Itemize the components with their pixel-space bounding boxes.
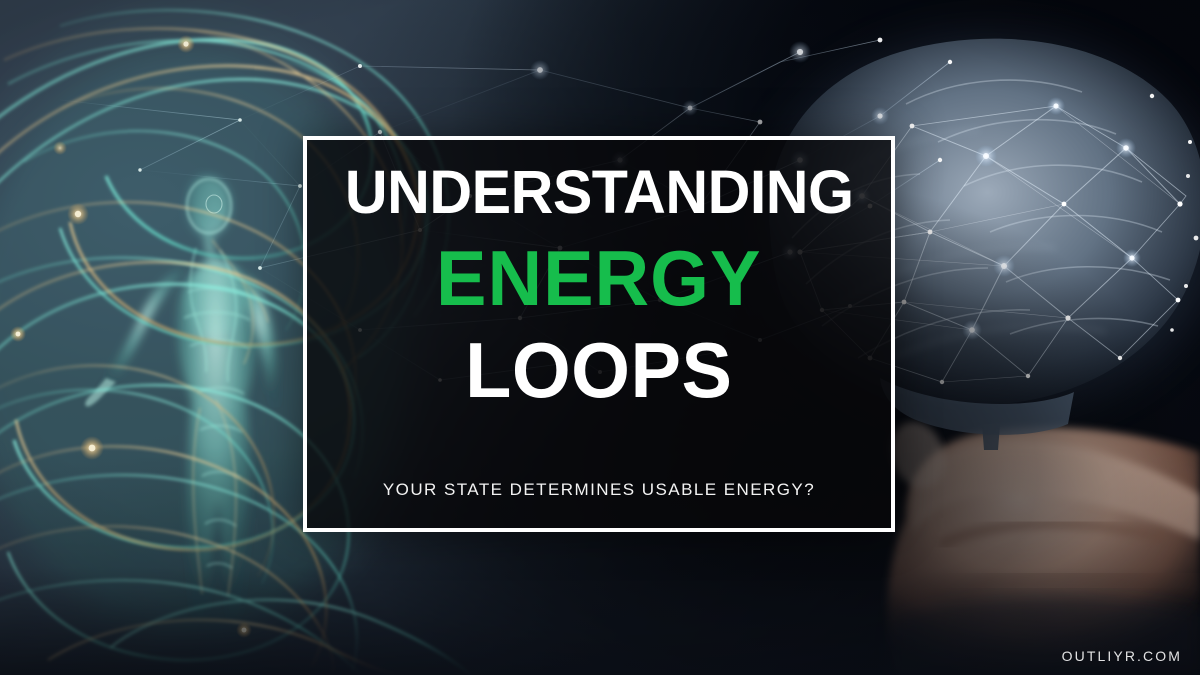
headline-line-2-accent: ENERGY [436,239,761,317]
thumbnail-canvas: UNDERSTANDING ENERGY LOOPS YOUR STATE DE… [0,0,1200,675]
headline-line-1: UNDERSTANDING [345,162,854,223]
site-watermark: OUTLIYR.COM [1062,648,1182,664]
headline-card: UNDERSTANDING ENERGY LOOPS YOUR STATE DE… [303,136,895,532]
headline-line-3: LOOPS [465,331,732,409]
subtitle-text: YOUR STATE DETERMINES USABLE ENERGY? [307,480,891,500]
